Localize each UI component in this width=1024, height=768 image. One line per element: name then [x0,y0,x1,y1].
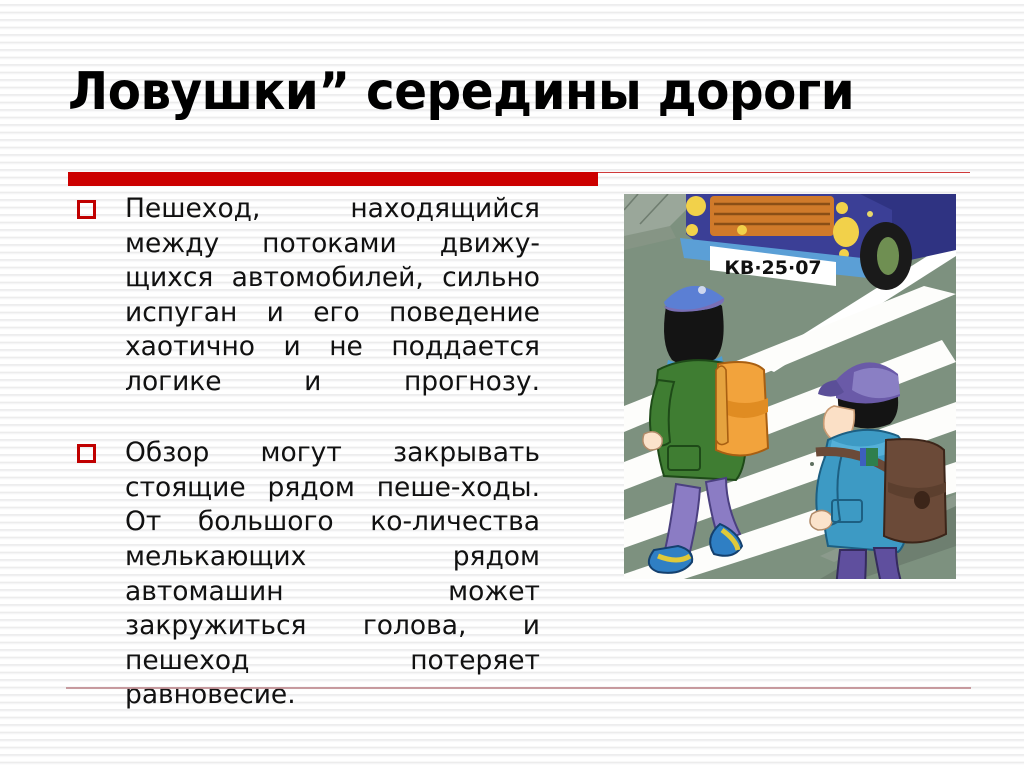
slide-canvas: Ловушки” середины дороги Пешеход, находя… [0,0,1024,768]
title-divider [68,170,970,186]
square-bullet-icon [77,200,96,219]
illustration-svg: КВ·25·07 [624,194,956,579]
list-item-text: Пешеход, находящийся между потоками движ… [70,192,540,434]
title-divider-thick [68,172,598,186]
page-title: Ловушки” середины дороги [68,62,886,122]
bullet-list: Пешеход, находящийся между потоками движ… [70,192,540,750]
list-item: Обзор могут закрывать стоящие рядом пеше… [70,436,540,747]
license-plate-text: КВ·25·07 [724,257,821,279]
square-bullet-icon [77,444,96,463]
list-item: Пешеход, находящийся между потоками движ… [70,192,540,434]
footer-rule [66,687,971,689]
illustration-crosswalk: КВ·25·07 [624,194,956,579]
list-item-text: Обзор могут закрывать стоящие рядом пеше… [70,436,540,747]
title-divider-thin [598,172,970,173]
